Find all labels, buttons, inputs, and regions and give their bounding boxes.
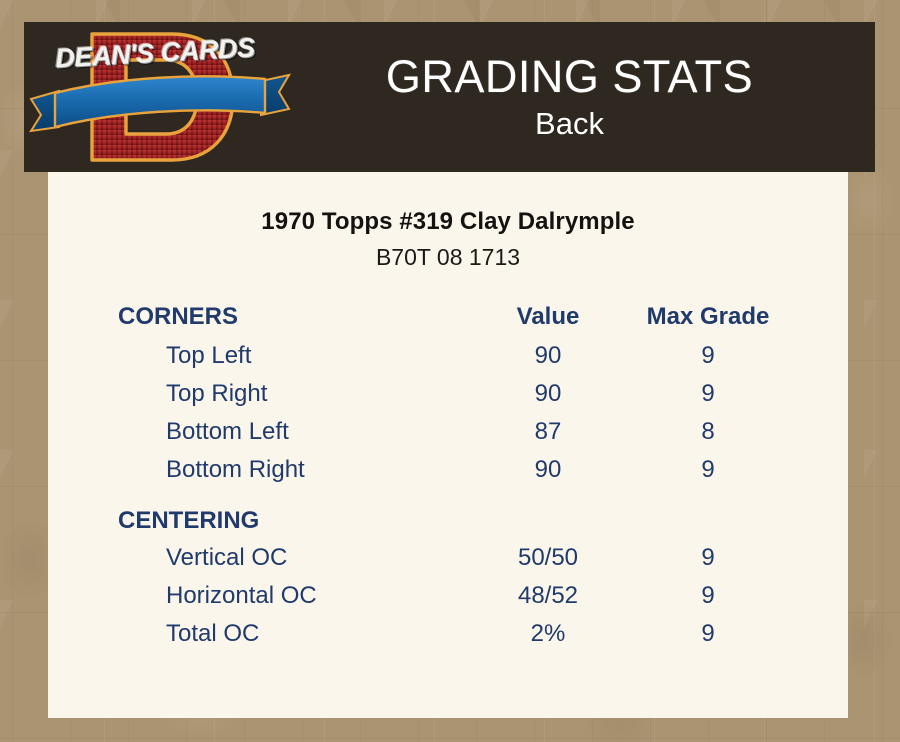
row-label: Top Left — [108, 337, 468, 375]
table-row: Bottom Left 87 8 — [108, 413, 788, 451]
column-header-value: Value — [468, 303, 628, 337]
table-row: Total OC 2% 9 — [108, 615, 788, 653]
header-titles: GRADING STATS Back — [294, 50, 875, 144]
card-heading: 1970 Topps #319 Clay Dalrymple — [48, 208, 848, 236]
row-label: Bottom Left — [108, 413, 468, 451]
table-row: Vertical OC 50/50 9 — [108, 539, 788, 577]
table-header-row: CORNERS Value Max Grade — [108, 303, 788, 337]
deans-cards-logo[interactable]: DEAN'S CARDS — [24, 22, 294, 172]
table-row: Horizontal OC 48/52 9 — [108, 577, 788, 615]
row-label: Bottom Right — [108, 451, 468, 489]
section-heading-spacer-value — [468, 489, 628, 539]
row-grade: 8 — [628, 413, 788, 451]
grading-stats-table: CORNERS Value Max Grade Top Left 90 9 To… — [108, 303, 788, 653]
column-header-corners: CORNERS — [108, 303, 468, 337]
section-heading-row: CENTERING — [108, 489, 788, 539]
row-label: Total OC — [108, 615, 468, 653]
row-value: 50/50 — [468, 539, 628, 577]
header-bar: DEAN'S CARDS GRADING STATS Back — [24, 22, 875, 172]
row-grade: 9 — [628, 577, 788, 615]
row-label: Top Right — [108, 375, 468, 413]
card-serial-number: B70T 08 1713 — [48, 244, 848, 271]
table-row: Top Right 90 9 — [108, 375, 788, 413]
section-heading-centering: CENTERING — [108, 489, 468, 539]
row-label: Horizontal OC — [108, 577, 468, 615]
row-value: 90 — [468, 451, 628, 489]
table-row: Top Left 90 9 — [108, 337, 788, 375]
content-panel: 1970 Topps #319 Clay Dalrymple B70T 08 1… — [48, 172, 848, 718]
page-subtitle: Back — [294, 104, 845, 144]
row-value: 48/52 — [468, 577, 628, 615]
row-grade: 9 — [628, 375, 788, 413]
section-heading-spacer-grade — [628, 489, 788, 539]
row-value: 87 — [468, 413, 628, 451]
row-value: 90 — [468, 337, 628, 375]
row-value: 90 — [468, 375, 628, 413]
logo-ribbon-icon — [29, 71, 291, 133]
row-grade: 9 — [628, 615, 788, 653]
grading-stats-body: Top Left 90 9 Top Right 90 9 Bottom Left… — [108, 337, 788, 653]
table-row: Bottom Right 90 9 — [108, 451, 788, 489]
row-label: Vertical OC — [108, 539, 468, 577]
page-title: GRADING STATS — [294, 50, 845, 104]
grading-stats-section: CORNERS Value Max Grade Top Left 90 9 To… — [48, 303, 848, 653]
page-root: DEAN'S CARDS GRADING STATS Back 1970 Top… — [0, 0, 900, 742]
row-value: 2% — [468, 615, 628, 653]
column-header-grade: Max Grade — [628, 303, 788, 337]
row-grade: 9 — [628, 539, 788, 577]
row-grade: 9 — [628, 451, 788, 489]
row-grade: 9 — [628, 337, 788, 375]
